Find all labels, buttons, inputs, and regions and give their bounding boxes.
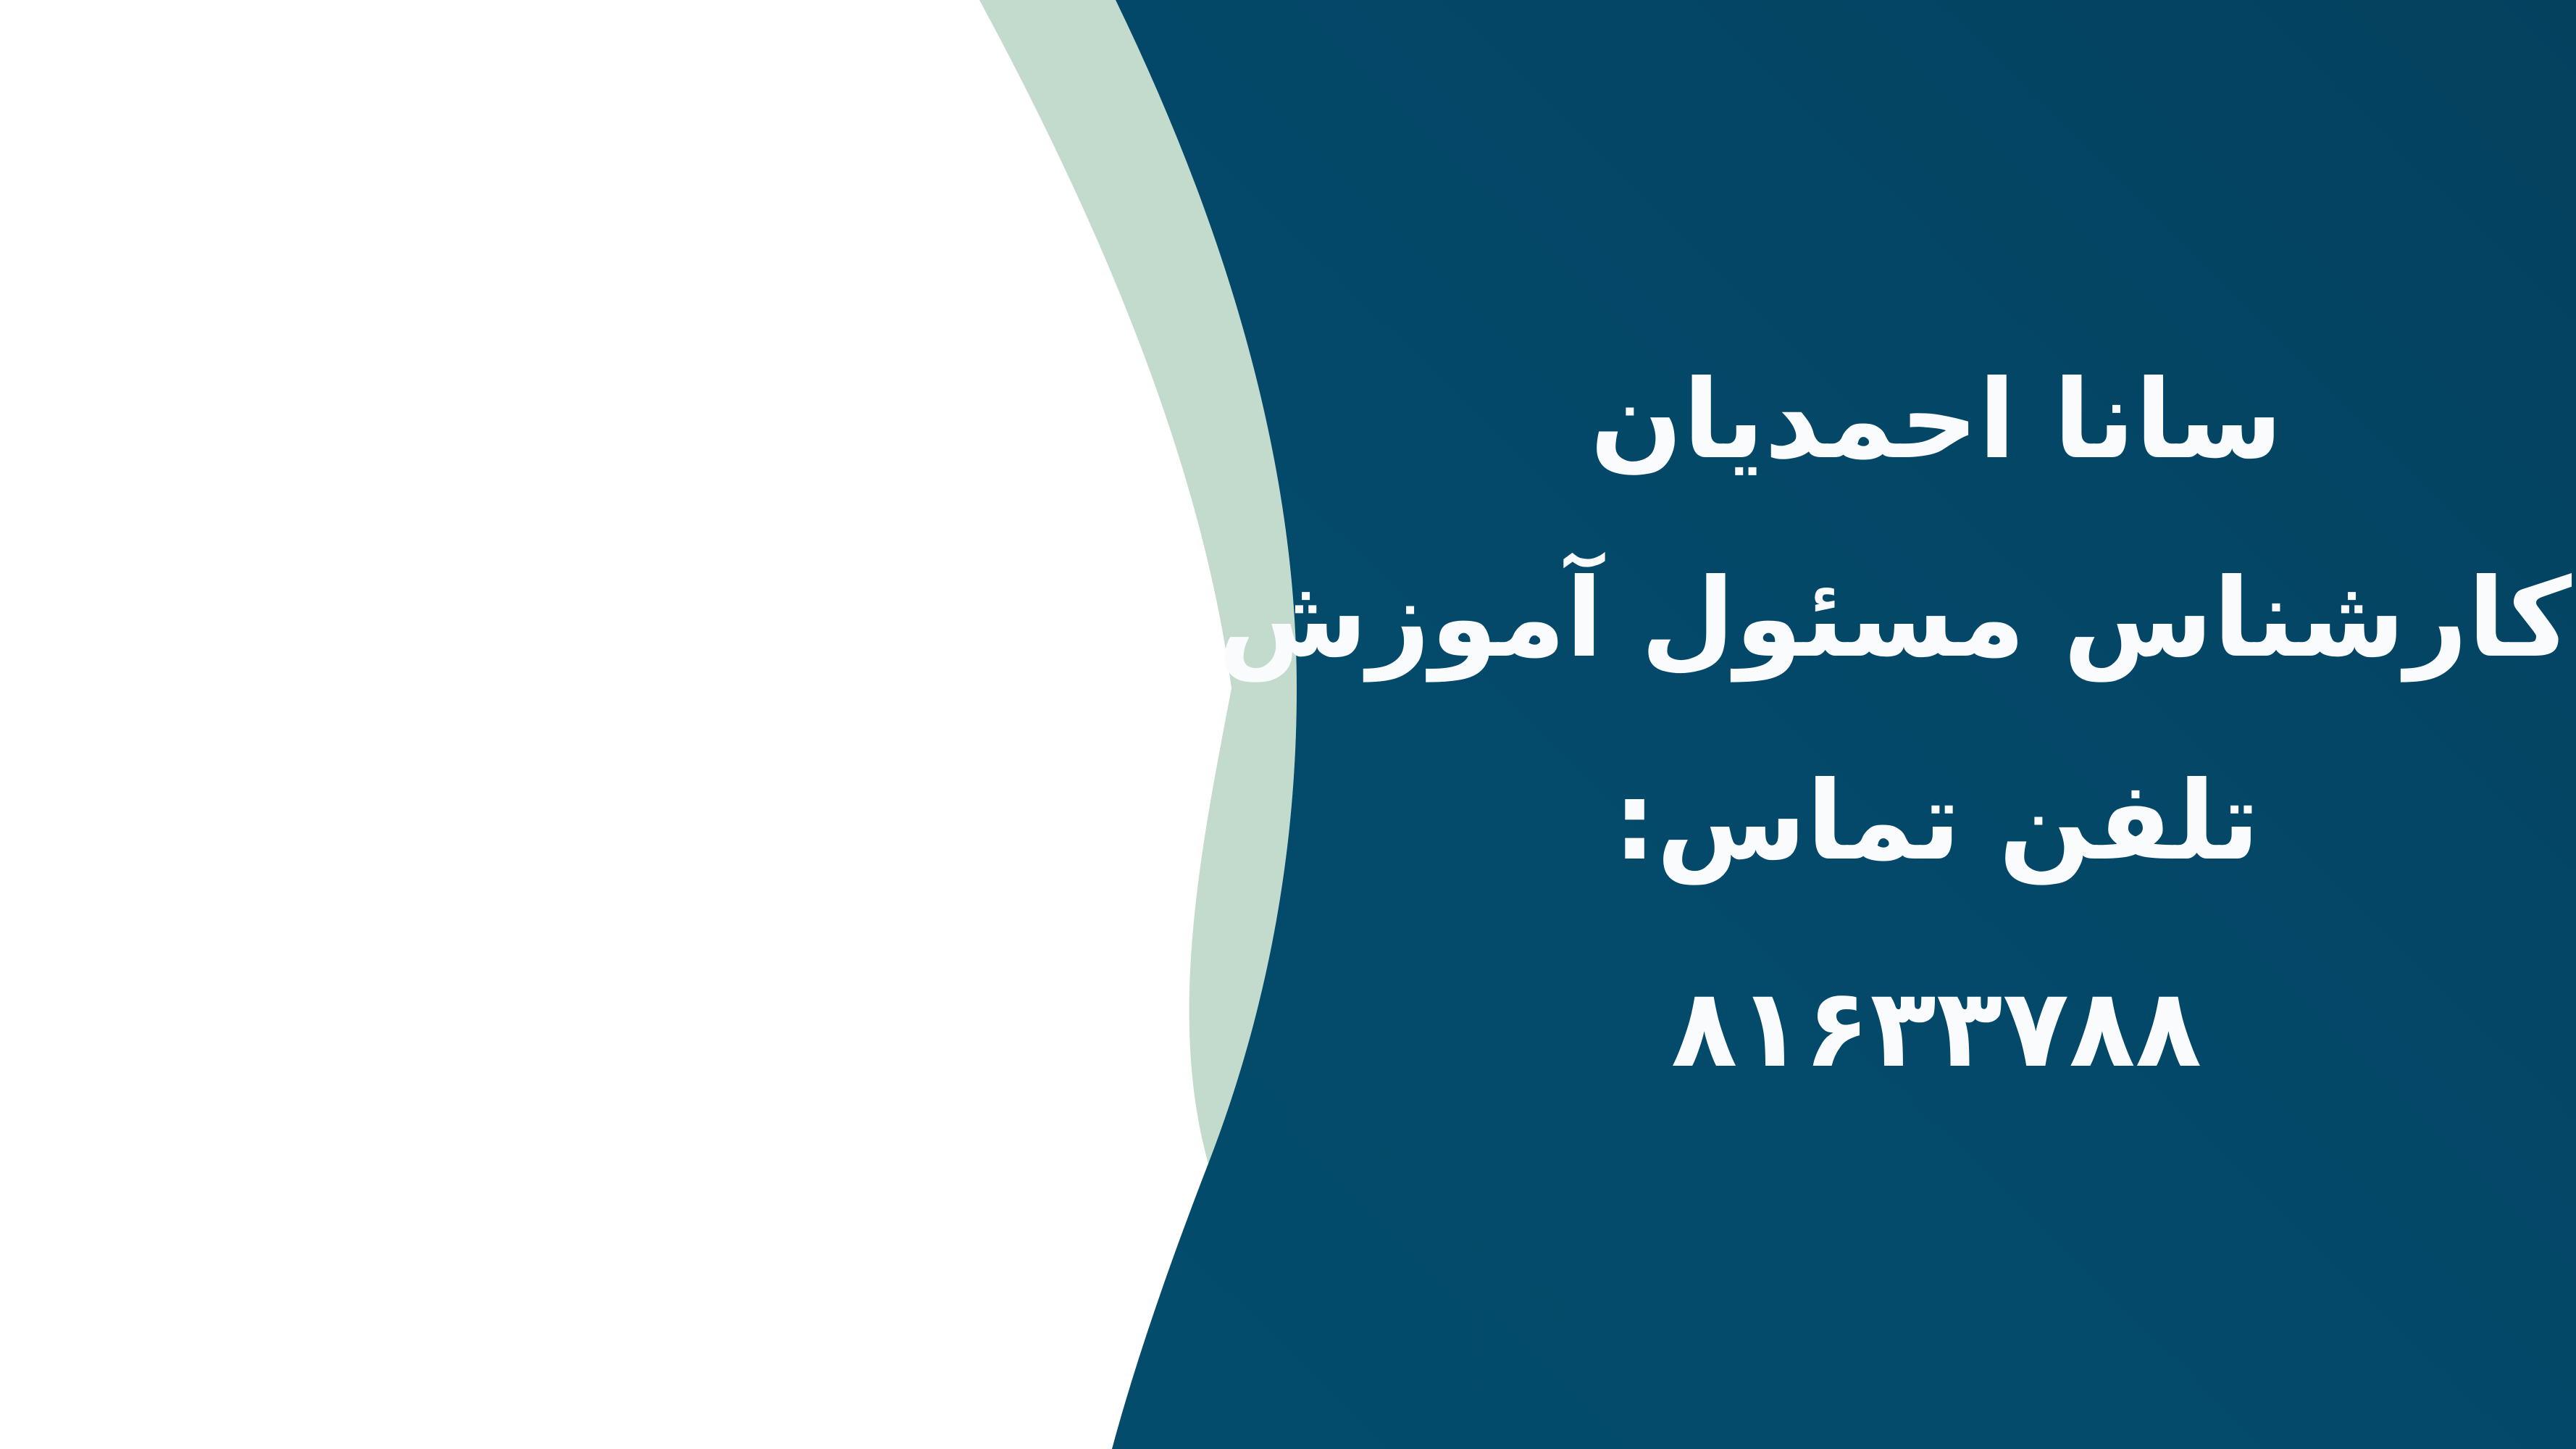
teal-right-panel: [1112, 0, 2576, 1449]
background-shapes: [0, 0, 2576, 1449]
contact-card: سانا احمدیان کارشناس مسئول آموزش تلفن تم…: [0, 0, 2576, 1449]
